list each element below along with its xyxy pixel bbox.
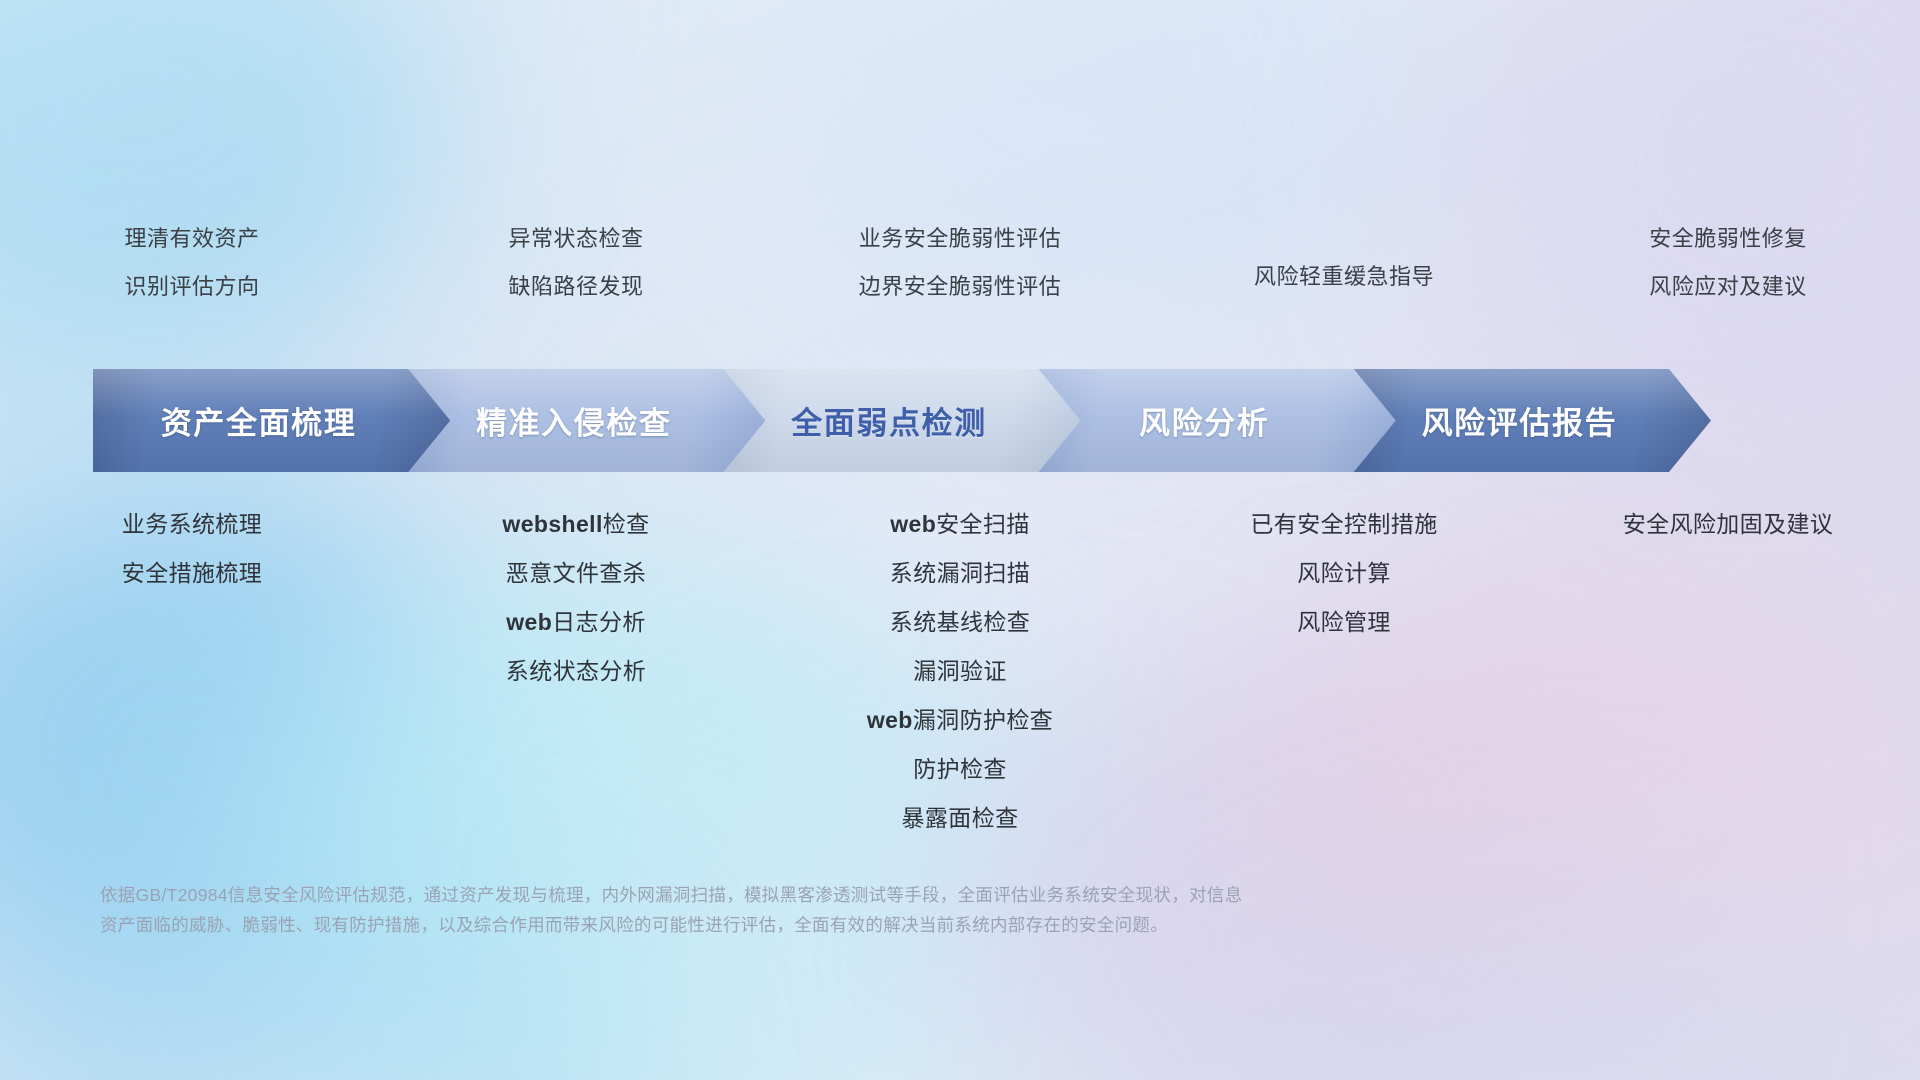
flow-stage-label: 风险评估报告 bbox=[1422, 398, 1644, 443]
top-note: 边界安全脆弱性评估 bbox=[859, 276, 1062, 298]
top-note: 业务安全脆弱性评估 bbox=[859, 228, 1062, 250]
list-item: 防护检查 bbox=[913, 758, 1007, 781]
bottom-items-row: 业务系统梳理安全措施梳理 webshell检查恶意文件查杀web日志分析系统状态… bbox=[0, 513, 1920, 856]
list-item: web安全扫描 bbox=[890, 513, 1030, 536]
list-item: 漏洞验证 bbox=[913, 660, 1007, 683]
top-notes-col-2: 异常状态检查缺陷路径发现 bbox=[384, 228, 768, 324]
top-note: 风险轻重缓急指导 bbox=[1254, 266, 1434, 288]
top-notes-col-1: 理清有效资产识别评估方向 bbox=[0, 228, 384, 324]
list-item: 业务系统梳理 bbox=[122, 513, 262, 536]
items-col-5: 安全风险加固及建议 bbox=[1536, 513, 1920, 562]
list-item: web漏洞防护检查 bbox=[867, 709, 1053, 732]
list-item: 系统漏洞扫描 bbox=[890, 562, 1030, 585]
list-item: 系统状态分析 bbox=[506, 660, 646, 683]
flow-stage-label: 资产全面梳理 bbox=[161, 398, 383, 443]
top-notes-col-3: 业务安全脆弱性评估边界安全脆弱性评估 bbox=[768, 228, 1152, 324]
top-notes-col-5: 安全脆弱性修复风险应对及建议 bbox=[1536, 228, 1920, 324]
top-note: 异常状态检查 bbox=[508, 228, 643, 250]
list-item: 恶意文件查杀 bbox=[506, 562, 646, 585]
flow-stage-label: 精准入侵检查 bbox=[476, 398, 698, 443]
items-col-1: 业务系统梳理安全措施梳理 bbox=[0, 513, 384, 611]
top-note: 理清有效资产 bbox=[124, 228, 259, 250]
flow-stage-5[interactable]: 风险评估报告 bbox=[1354, 369, 1711, 472]
list-item: 已有安全控制措施 bbox=[1250, 513, 1437, 536]
process-flow-chevrons: 风险评估报告风险分析全面弱点检测精准入侵检查资产全面梳理 bbox=[93, 369, 1837, 472]
list-item: 安全风险加固及建议 bbox=[1623, 513, 1834, 536]
list-item: webshell检查 bbox=[502, 513, 649, 536]
flow-stage-label: 风险分析 bbox=[1139, 398, 1295, 443]
top-notes-col-4: 风险轻重缓急指导 bbox=[1152, 228, 1536, 324]
top-note: 安全脆弱性修复 bbox=[1649, 228, 1807, 250]
list-item: 风险计算 bbox=[1297, 562, 1391, 585]
flow-stage-label: 全面弱点检测 bbox=[791, 398, 1013, 443]
list-item: web日志分析 bbox=[506, 611, 646, 634]
flow-stage-2[interactable]: 精准入侵检查 bbox=[408, 369, 765, 472]
top-note: 识别评估方向 bbox=[124, 276, 259, 298]
items-col-4: 已有安全控制措施风险计算风险管理 bbox=[1152, 513, 1536, 660]
flow-stage-4[interactable]: 风险分析 bbox=[1039, 369, 1396, 472]
footer-description: 依据GB/T20984信息安全风险评估规范，通过资产发现与梳理，内外网漏洞扫描，… bbox=[100, 880, 1620, 940]
top-note: 风险应对及建议 bbox=[1649, 276, 1807, 298]
list-item: 系统基线检查 bbox=[890, 611, 1030, 634]
footer-line-1: 依据GB/T20984信息安全风险评估规范，通过资产发现与梳理，内外网漏洞扫描，… bbox=[100, 880, 1620, 910]
flow-stage-3[interactable]: 全面弱点检测 bbox=[723, 369, 1080, 472]
footer-line-2: 资产面临的威胁、脆弱性、现有防护措施，以及综合作用而带来风险的可能性进行评估，全… bbox=[100, 910, 1620, 940]
list-item: 暴露面检查 bbox=[902, 807, 1019, 830]
items-col-2: webshell检查恶意文件查杀web日志分析系统状态分析 bbox=[384, 513, 768, 709]
flow-stage-1[interactable]: 资产全面梳理 bbox=[93, 369, 450, 472]
top-notes-row: 理清有效资产识别评估方向 异常状态检查缺陷路径发现 业务安全脆弱性评估边界安全脆… bbox=[0, 228, 1920, 324]
top-note: 缺陷路径发现 bbox=[508, 276, 643, 298]
list-item: 安全措施梳理 bbox=[122, 562, 262, 585]
items-col-3: web安全扫描系统漏洞扫描系统基线检查漏洞验证web漏洞防护检查防护检查暴露面检… bbox=[768, 513, 1152, 856]
list-item: 风险管理 bbox=[1297, 611, 1391, 634]
